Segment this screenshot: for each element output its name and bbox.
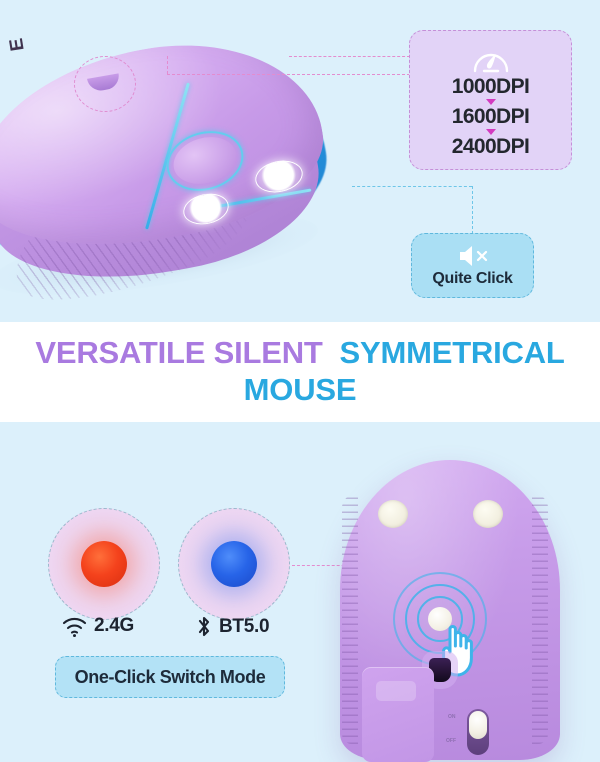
dpi-callout[interactable]: 1000DPI 1600DPI 2400DPI [409, 30, 572, 170]
headline-band: VERSATILE SILENT SYMMETRICAL MOUSE [0, 322, 600, 422]
page-title: VERSATILE SILENT SYMMETRICAL MOUSE [15, 335, 585, 408]
title-part-blue: SYMMETRICAL [340, 335, 565, 370]
title-part-purple: VERSATILE SILENT [35, 335, 322, 370]
mode-bluetooth-label: BT5.0 [219, 616, 269, 638]
dpi-arrow-icon [486, 129, 496, 135]
dpi-value: 2400DPI [452, 136, 530, 157]
gauge-icon [471, 44, 511, 74]
wireless-mouse-top-view: E [0, 28, 350, 298]
dpi-value: 1600DPI [452, 106, 530, 127]
power-switch-off-label: OFF [446, 738, 456, 744]
power-switch[interactable] [467, 709, 489, 755]
mode-bluetooth-led [211, 541, 257, 587]
mode-24g-label: 2.4G [94, 615, 134, 637]
quiet-connector-segment-1 [352, 186, 472, 187]
mouse-right-grip-texture [532, 494, 548, 744]
quiet-click-callout[interactable]: Quite Click [411, 233, 534, 298]
dpi-connector-segment-3 [289, 56, 410, 57]
mode-24g-indicator[interactable] [48, 508, 160, 620]
quiet-click-label: Quite Click [432, 270, 512, 288]
dpi-arrow-icon [486, 99, 496, 105]
power-switch-on-label: ON [448, 714, 456, 720]
wireless-mouse-bottom-view: ON OFF [330, 460, 570, 760]
speaker-mute-icon [456, 243, 490, 269]
dpi-button-highlight-ring [74, 56, 136, 112]
one-click-switch-callout[interactable]: One-Click Switch Mode [55, 656, 285, 698]
mouse-glide-pad-left [378, 500, 408, 528]
mouse-left-grip-texture [342, 494, 358, 744]
mode-24g-label-group: 2.4G [62, 615, 134, 637]
battery-compartment-cover [362, 667, 434, 762]
top-feature-panel: E 1000DPI 1600DPI 2400DPI Quite Click [0, 0, 600, 322]
quiet-connector-segment-2 [472, 186, 473, 234]
mode-bluetooth-label-group: BT5.0 [196, 615, 269, 638]
bluetooth-icon [196, 615, 212, 638]
dpi-connector-segment-2 [167, 74, 410, 75]
dpi-value: 1000DPI [452, 76, 530, 97]
one-click-switch-label: One-Click Switch Mode [75, 667, 266, 688]
dpi-connector-segment-1 [167, 56, 168, 74]
wifi-icon [62, 616, 87, 637]
title-line-2: MOUSE [244, 372, 357, 407]
mouse-glide-pad-right [473, 500, 503, 528]
mode-bluetooth-indicator[interactable] [178, 508, 290, 620]
brand-logo: E [6, 38, 30, 53]
mode-24g-led [81, 541, 127, 587]
